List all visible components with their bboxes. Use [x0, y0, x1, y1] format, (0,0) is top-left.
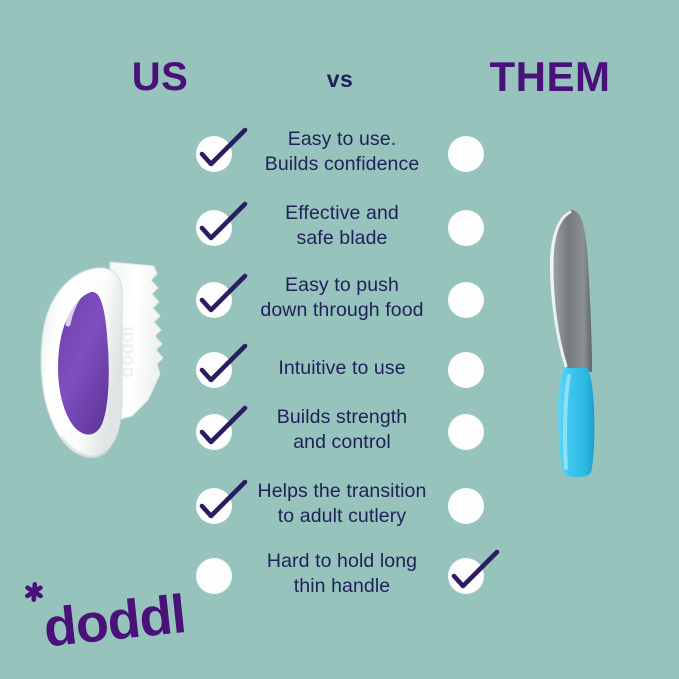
infographic-canvas: US vs THEM [0, 0, 679, 679]
them-check-icon [448, 558, 484, 594]
us-check-icon [196, 352, 232, 388]
feature-label: Hard to hold longthin handle [236, 549, 448, 599]
feature-label: Helps the transitionto adult cutlery [236, 479, 448, 529]
them-empty-circle-icon [448, 414, 484, 450]
feature-label: Effective andsafe blade [236, 201, 448, 251]
them-empty-circle-icon [448, 488, 484, 524]
us-check-icon [196, 282, 232, 318]
us-check-icon [196, 488, 232, 524]
feature-label: Easy to use.Builds confidence [236, 127, 448, 177]
svg-text:doddl: doddl [41, 584, 188, 658]
brand-logo-doddl: doddl [18, 578, 198, 658]
column-header-them: THEM [390, 53, 679, 101]
them-empty-circle-icon [448, 210, 484, 246]
us-check-icon [196, 210, 232, 246]
product-image-doddl-knife: doddl * [36, 248, 206, 478]
us-check-icon [196, 136, 232, 172]
them-empty-circle-icon [448, 282, 484, 318]
feature-label: Easy to pushdown through food [236, 273, 448, 323]
feature-label: Intuitive to use [236, 356, 448, 381]
them-empty-circle-icon [448, 352, 484, 388]
them-empty-circle-icon [448, 136, 484, 172]
feature-label: Builds strengthand control [236, 405, 448, 455]
product-image-competitor-knife [530, 200, 640, 480]
versus-label: vs [275, 66, 405, 93]
us-empty-circle-icon [196, 558, 232, 594]
us-check-icon [196, 414, 232, 450]
column-header-us: US [0, 55, 320, 100]
